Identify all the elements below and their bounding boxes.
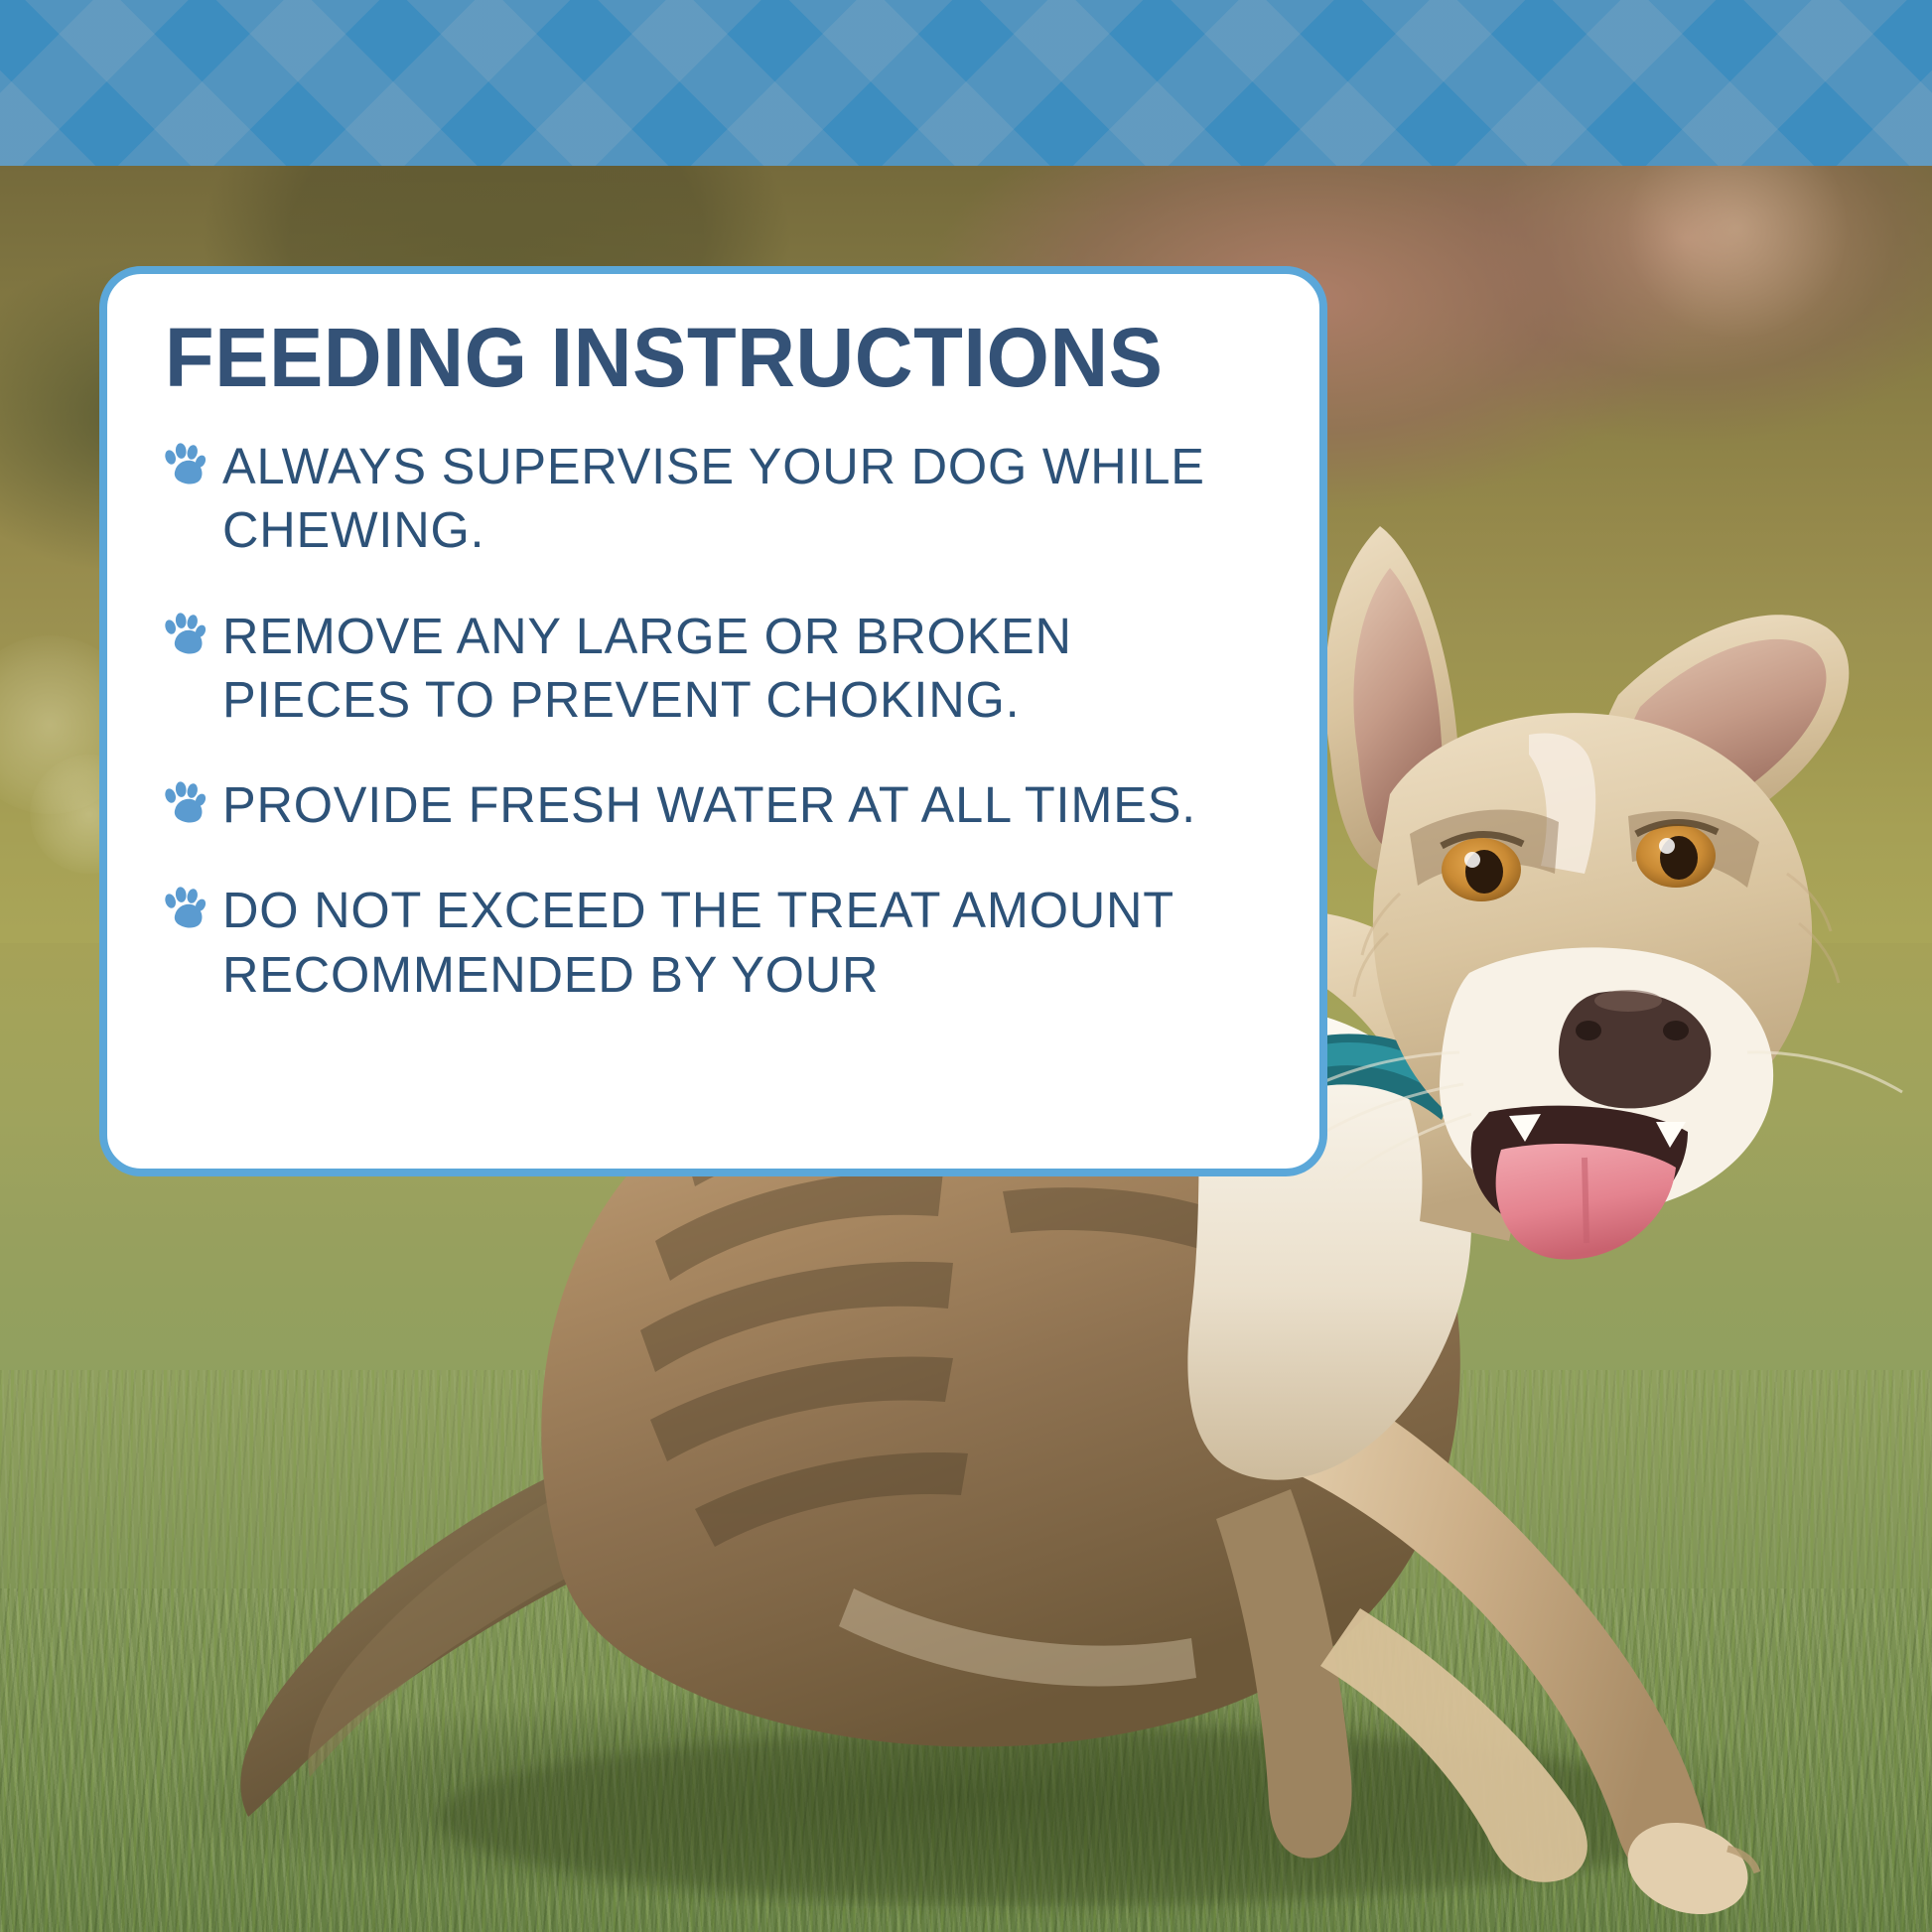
dog-tongue-crease <box>1585 1158 1587 1243</box>
dog-nose-highlight <box>1594 990 1662 1012</box>
paw-icon <box>161 441 207 486</box>
dog-nostril-left <box>1576 1021 1601 1040</box>
gingham-header-band <box>0 0 1932 166</box>
page-title: FEEDING INSTRUCTIONS <box>161 316 1233 399</box>
list-item: REMOVE ANY LARGE OR BROKEN PIECES TO PRE… <box>161 605 1266 733</box>
list-item: PROVIDE FRESH WATER AT ALL TIMES. <box>161 773 1266 837</box>
paw-icon <box>161 779 207 825</box>
product-image-canvas: FEEDING INSTRUCTIONS ALWAYS SUPERVISE YO… <box>0 0 1932 1932</box>
instructions-list: ALWAYS SUPERVISE YOUR DOG WHILE CHEWING.… <box>161 435 1266 1007</box>
list-item: ALWAYS SUPERVISE YOUR DOG WHILE CHEWING. <box>161 435 1266 563</box>
feeding-instructions-card: FEEDING INSTRUCTIONS ALWAYS SUPERVISE YO… <box>99 266 1327 1176</box>
list-item: DO NOT EXCEED THE TREAT AMOUNT RECOMMEND… <box>161 879 1266 1007</box>
list-item-label: DO NOT EXCEED THE TREAT AMOUNT RECOMMEND… <box>222 879 1245 1007</box>
dog-nostril-right <box>1663 1021 1689 1040</box>
list-item-label: PROVIDE FRESH WATER AT ALL TIMES. <box>222 773 1196 837</box>
list-item-label: ALWAYS SUPERVISE YOUR DOG WHILE CHEWING. <box>222 435 1245 563</box>
paw-icon <box>161 885 207 930</box>
list-item-label: REMOVE ANY LARGE OR BROKEN PIECES TO PRE… <box>222 605 1245 733</box>
paw-icon <box>161 611 207 656</box>
